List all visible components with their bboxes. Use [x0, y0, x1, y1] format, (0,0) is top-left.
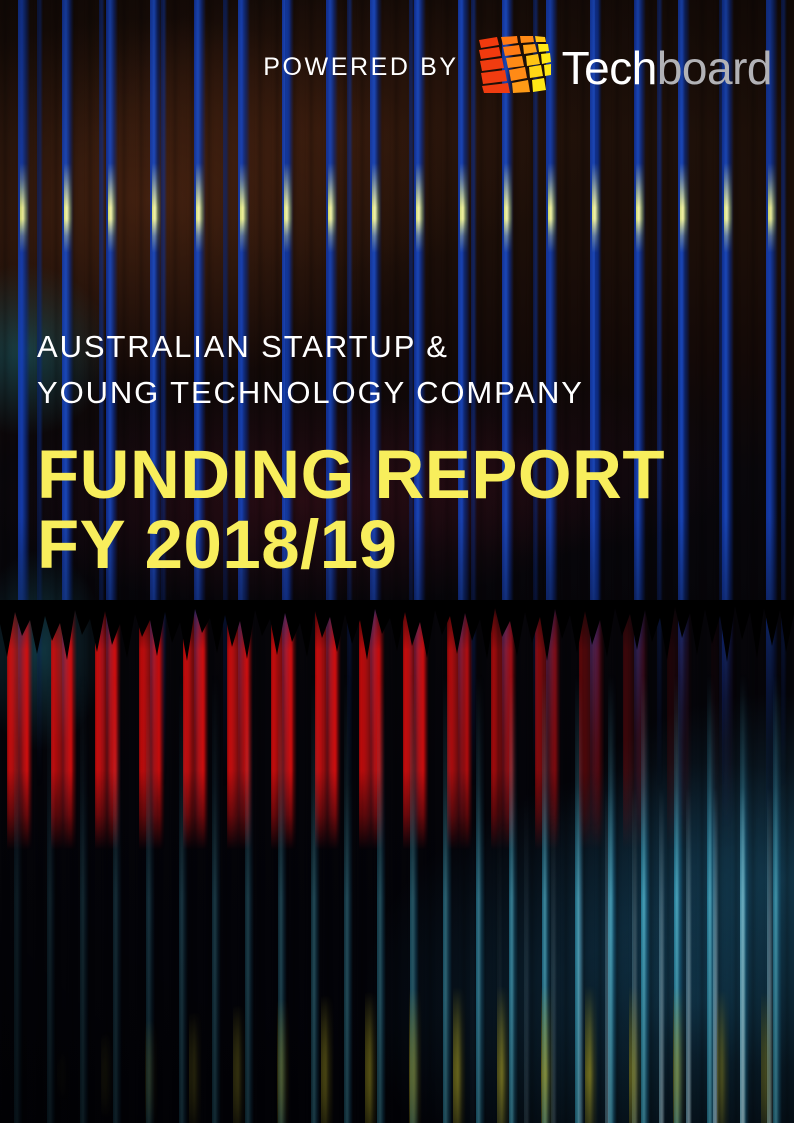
headline-line-2: FY 2018/19	[37, 510, 665, 580]
report-cover: POWERED BY	[0, 0, 794, 1123]
subtitle-line-2: YOUNG TECHNOLOGY COMPANY	[37, 370, 665, 416]
techboard-logo-lockup: Techboard	[477, 36, 772, 99]
report-headline: FUNDING REPORT FY 2018/19	[37, 440, 665, 581]
techboard-grid-logo-icon	[477, 36, 551, 99]
techboard-wordmark: Techboard	[562, 45, 772, 91]
title-block: AUSTRALIAN STARTUP & YOUNG TECHNOLOGY CO…	[37, 324, 665, 581]
headline-line-1: FUNDING REPORT	[37, 436, 665, 513]
subtitle-line-1: AUSTRALIAN STARTUP &	[37, 324, 665, 370]
cover-content: POWERED BY	[0, 0, 794, 1123]
powered-by-row: POWERED BY	[263, 36, 772, 99]
brand-name-tech: Tech	[562, 42, 657, 94]
powered-by-label: POWERED BY	[263, 53, 458, 82]
brand-name-board: board	[657, 42, 772, 94]
